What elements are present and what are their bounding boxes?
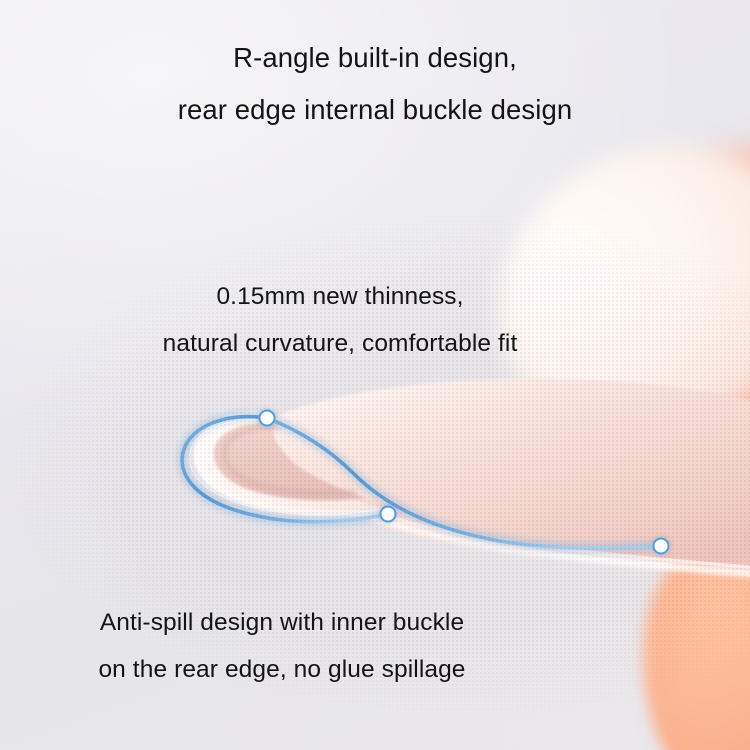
caption-bottom: Anti-spill design with inner buckle on t… — [0, 611, 564, 682]
caption-top-line1: R-angle built-in design, — [0, 44, 750, 72]
caption-bottom-line2: on the rear edge, no glue spillage — [0, 658, 564, 683]
product-image-canvas: R-angle built-in design, rear edge inter… — [0, 0, 750, 750]
marker-curl-bottom — [380, 506, 397, 523]
marker-curl-top — [259, 410, 276, 427]
caption-bottom-line1: Anti-spill design with inner buckle — [0, 611, 564, 636]
caption-middle: 0.15mm new thinness, natural curvature, … — [0, 285, 680, 356]
caption-middle-line1: 0.15mm new thinness, — [0, 285, 680, 310]
caption-top-heading: R-angle built-in design, rear edge inter… — [0, 44, 750, 123]
caption-top-line2: rear edge internal buckle design — [0, 96, 750, 124]
caption-middle-line2: natural curvature, comfortable fit — [0, 332, 680, 357]
marker-rear-edge — [653, 538, 670, 555]
